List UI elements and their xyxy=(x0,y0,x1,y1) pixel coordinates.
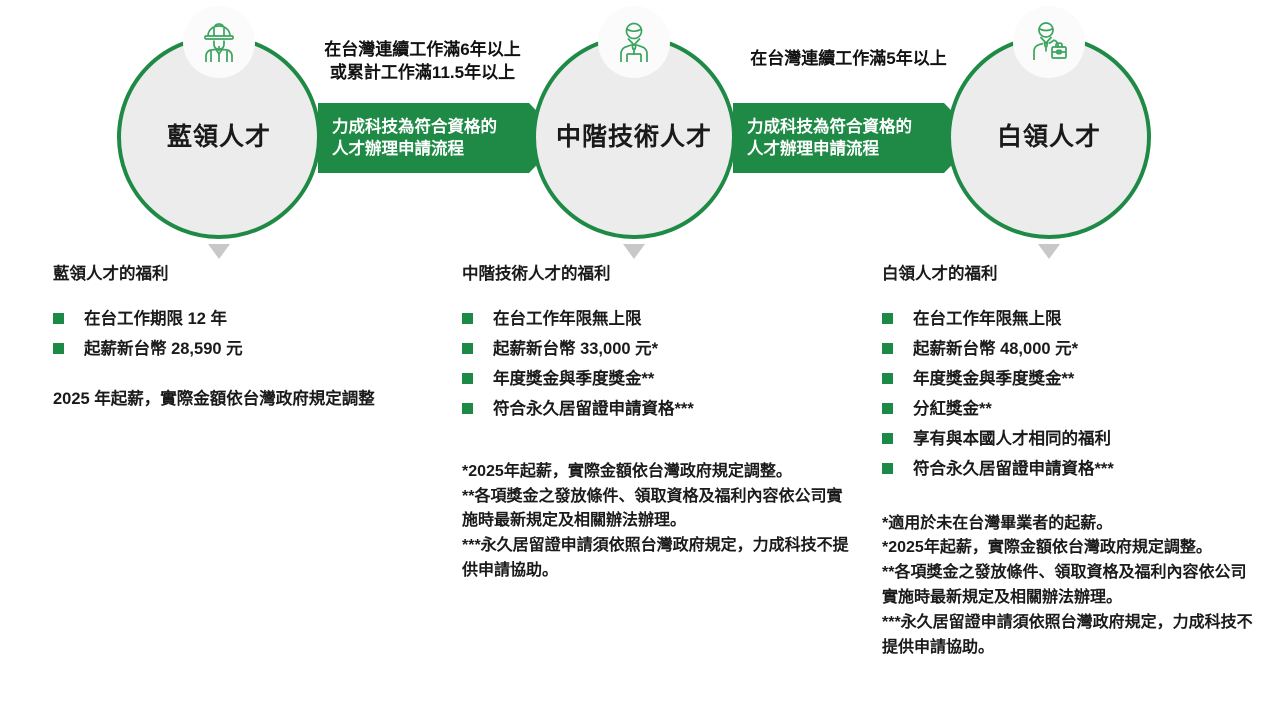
benefits-list: 在台工作年限無上限 起薪新台幣 48,000 元* 年度獎金與季度獎金** 分紅… xyxy=(882,308,1262,482)
column-title: 中階技術人才的福利 xyxy=(462,263,852,286)
pointer-triangle-white-collar xyxy=(1038,244,1060,259)
benefits-column-white-collar: 白領人才的福利 在台工作年限無上限 起薪新台幣 48,000 元* 年度獎金與季… xyxy=(882,263,1262,660)
list-item-label: 起薪新台幣 28,590 元 xyxy=(84,338,243,362)
list-item-label: 在台工作期限 12 年 xyxy=(84,308,227,332)
list-item: 在台工作期限 12 年 xyxy=(53,308,453,332)
list-item: 在台工作年限無上限 xyxy=(882,308,1262,332)
flow-condition-1: 在台灣連續工作滿6年以上 或累計工作滿11.5年以上 xyxy=(300,38,545,84)
column-note: 2025 年起薪，實際金額依台灣政府規定調整 xyxy=(53,388,453,412)
list-item: 符合永久居留證申請資格*** xyxy=(462,398,852,422)
bullet-square-icon xyxy=(462,313,473,324)
list-item-label: 符合永久居留證申請資格*** xyxy=(493,398,694,422)
bullet-square-icon xyxy=(882,433,893,444)
businessperson-briefcase-icon xyxy=(1013,6,1085,78)
list-item: 在台工作年限無上限 xyxy=(462,308,852,332)
column-title: 白領人才的福利 xyxy=(882,263,1262,286)
list-item-label: 符合永久居留證申請資格*** xyxy=(913,458,1114,482)
bullet-square-icon xyxy=(462,403,473,414)
column-title: 藍領人才的福利 xyxy=(53,263,453,286)
flow-condition-2: 在台灣連續工作滿5年以上 xyxy=(716,47,981,70)
list-item-label: 年度獎金與季度獎金** xyxy=(913,368,1074,392)
list-item: 起薪新台幣 48,000 元* xyxy=(882,338,1262,362)
list-item-label: 年度獎金與季度獎金** xyxy=(493,368,654,392)
benefits-column-mid-tech: 中階技術人才的福利 在台工作年限無上限 起薪新台幣 33,000 元* 年度獎金… xyxy=(462,263,852,584)
benefits-list: 在台工作期限 12 年 起薪新台幣 28,590 元 xyxy=(53,308,453,362)
column-footnotes: *2025年起薪，實際金額依台灣政府規定調整。 **各項獎金之發放條件、領取資格… xyxy=(462,460,852,584)
flow-arrow-label: 力成科技為符合資格的 人才辦理申請流程 xyxy=(733,116,912,161)
list-item: 分紅獎金** xyxy=(882,398,1262,422)
flow-node-label: 白領人才 xyxy=(997,125,1101,150)
hard-hat-worker-icon xyxy=(183,6,255,78)
list-item: 年度獎金與季度獎金** xyxy=(882,368,1262,392)
flow-arrow-1: 力成科技為符合資格的 人才辦理申請流程 xyxy=(318,103,563,173)
list-item: 起薪新台幣 28,590 元 xyxy=(53,338,453,362)
bullet-square-icon xyxy=(882,403,893,414)
bullet-square-icon xyxy=(882,373,893,384)
bullet-square-icon xyxy=(882,463,893,474)
flow-arrow-label: 力成科技為符合資格的 人才辦理申請流程 xyxy=(318,116,497,161)
bullet-square-icon xyxy=(882,343,893,354)
list-item-label: 起薪新台幣 48,000 元* xyxy=(913,338,1078,362)
pointer-triangle-mid-tech xyxy=(623,244,645,259)
list-item: 年度獎金與季度獎金** xyxy=(462,368,852,392)
benefits-list: 在台工作年限無上限 起薪新台幣 33,000 元* 年度獎金與季度獎金** 符合… xyxy=(462,308,852,422)
list-item: 起薪新台幣 33,000 元* xyxy=(462,338,852,362)
pointer-triangle-blue-collar xyxy=(208,244,230,259)
benefits-column-blue-collar: 藍領人才的福利 在台工作期限 12 年 起薪新台幣 28,590 元 2025 … xyxy=(53,263,453,412)
list-item-label: 在台工作年限無上限 xyxy=(493,308,642,332)
bullet-square-icon xyxy=(462,343,473,354)
flow-node-label: 中階技術人才 xyxy=(556,125,712,150)
list-item: 符合永久居留證申請資格*** xyxy=(882,458,1262,482)
bullet-square-icon xyxy=(462,373,473,384)
flow-arrow-2: 力成科技為符合資格的 人才辦理申請流程 xyxy=(733,103,978,173)
bullet-square-icon xyxy=(53,313,64,324)
bullet-square-icon xyxy=(53,343,64,354)
column-footnotes: *適用於未在台灣畢業者的起薪。 *2025年起薪，實際金額依台灣政府規定調整。 … xyxy=(882,512,1262,661)
list-item: 享有與本國人才相同的福利 xyxy=(882,428,1262,452)
infographic-canvas: 藍領人才 在台灣連續工作滿6年以上 或累計工作滿11.5年以上 力成科技為符合資… xyxy=(0,0,1280,720)
list-item-label: 分紅獎金** xyxy=(913,398,992,422)
list-item-label: 享有與本國人才相同的福利 xyxy=(913,428,1111,452)
bullet-square-icon xyxy=(882,313,893,324)
list-item-label: 在台工作年限無上限 xyxy=(913,308,1062,332)
technician-icon xyxy=(598,6,670,78)
flow-node-label: 藍領人才 xyxy=(167,125,271,150)
list-item-label: 起薪新台幣 33,000 元* xyxy=(493,338,658,362)
